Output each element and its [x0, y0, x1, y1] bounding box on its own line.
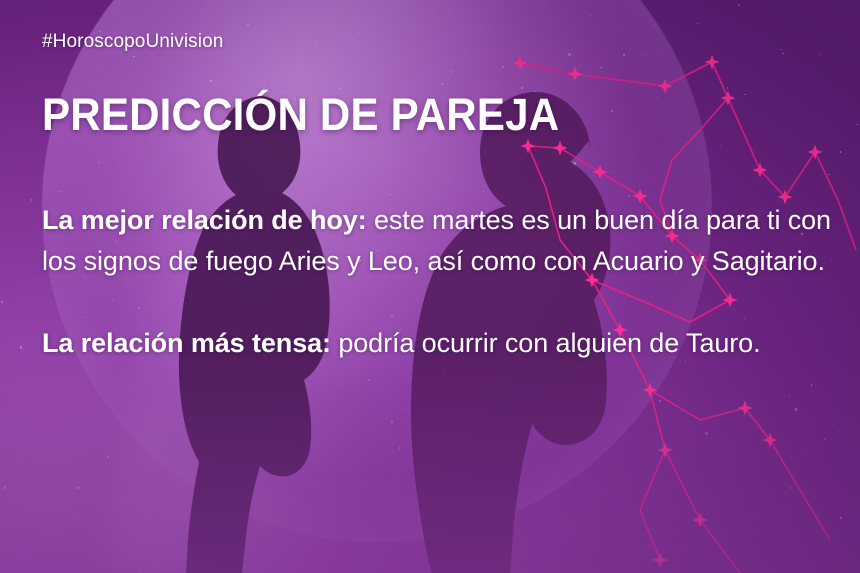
paragraph-tense-relationship-lead: La relación más tensa:: [42, 328, 331, 358]
hashtag-label: #HoroscopoUnivision: [42, 31, 223, 53]
paragraph-best-relationship-lead: La mejor relación de hoy:: [42, 205, 367, 235]
paragraph-spacer: [42, 282, 842, 323]
horoscope-poster: #HoroscopoUnivision PREDICCIÓN DE PAREJA…: [0, 0, 860, 573]
paragraph-best-relationship: La mejor relación de hoy: este martes es…: [42, 200, 842, 282]
prediction-body: La mejor relación de hoy: este martes es…: [42, 200, 842, 364]
page-title: PREDICCIÓN DE PAREJA: [42, 89, 559, 141]
paragraph-tense-relationship-text: podría ocurrir con alguien de Tauro.: [331, 328, 761, 358]
paragraph-tense-relationship: La relación más tensa: podría ocurrir co…: [42, 323, 842, 364]
content-layer: #HoroscopoUnivision PREDICCIÓN DE PAREJA…: [0, 0, 860, 573]
